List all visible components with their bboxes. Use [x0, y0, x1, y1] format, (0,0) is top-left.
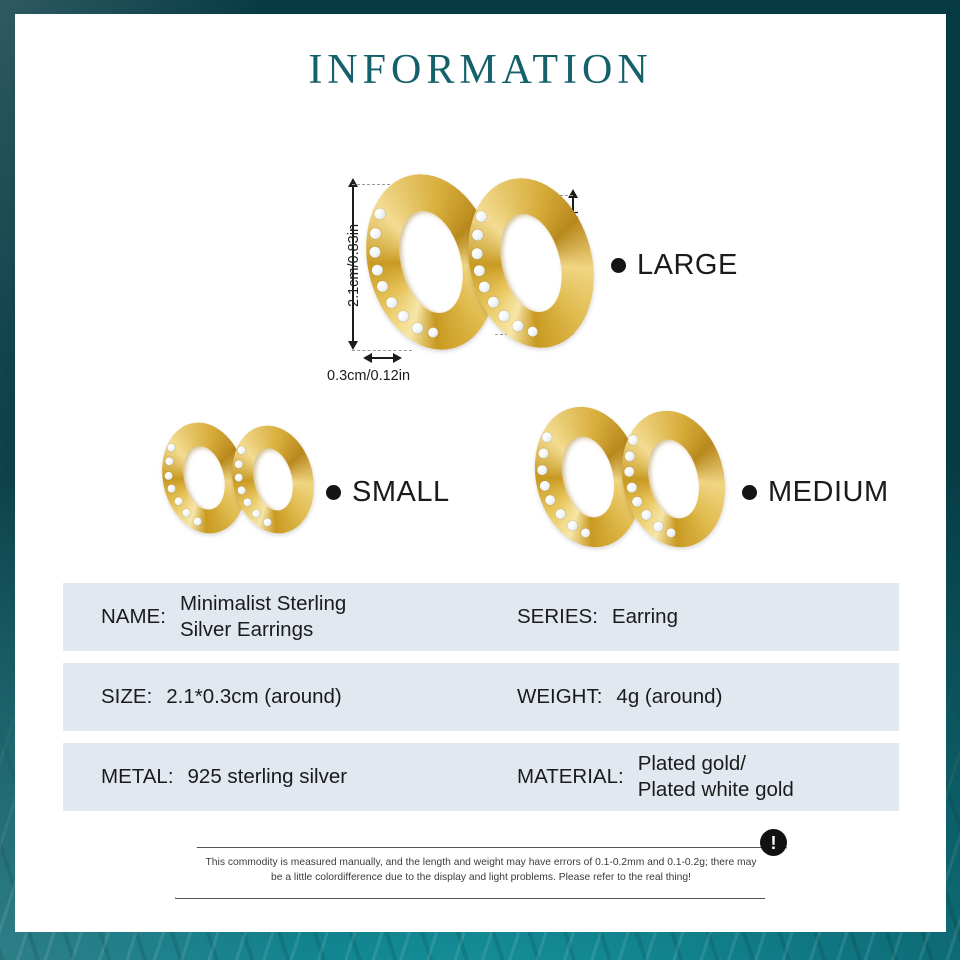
- spec-key-material: MATERIAL:: [517, 765, 624, 789]
- information-card: INFORMATION 2.1cm/0.83in 1.8cm/0.71in 0.…: [15, 14, 946, 932]
- spec-value-name: Minimalist SterlingSilver Earrings: [180, 591, 346, 643]
- spec-key-metal: METAL:: [101, 765, 174, 789]
- spec-cell-series: SERIES: Earring: [507, 598, 899, 636]
- spec-row-name: NAME: Minimalist SterlingSilver Earrings…: [63, 583, 899, 651]
- bullet-icon-medium: [742, 485, 757, 500]
- size-label-small: SMALL: [352, 476, 450, 509]
- spec-cell-metal: METAL: 925 sterling silver: [63, 758, 507, 796]
- bullet-icon-large: [611, 258, 626, 273]
- pave-stones-medium-right: [609, 400, 738, 557]
- bullet-icon-small: [326, 485, 341, 500]
- dim-arrow-bottom-left: [348, 341, 358, 350]
- disclaimer-text: This commodity is measured manually, and…: [201, 856, 761, 886]
- dim-label-width: 0.3cm/0.12in: [327, 368, 410, 384]
- size-caption-medium: MEDIUM: [742, 476, 889, 509]
- disclaimer-banner: This commodity is measured manually, and…: [175, 847, 787, 899]
- size-label-large: LARGE: [637, 249, 738, 282]
- exclamation-icon: !: [760, 829, 787, 856]
- spec-row-metal: METAL: 925 sterling silver MATERIAL: Pla…: [63, 743, 899, 811]
- spec-key-name: NAME:: [101, 605, 166, 629]
- spec-key-series: SERIES:: [517, 605, 598, 629]
- size-caption-large: LARGE: [611, 249, 738, 282]
- spec-cell-size: SIZE: 2.1*0.3cm (around): [63, 678, 507, 716]
- spec-key-size: SIZE:: [101, 685, 152, 709]
- size-label-medium: MEDIUM: [768, 476, 889, 509]
- spec-value-material: Plated gold/Plated white gold: [638, 751, 794, 803]
- size-caption-small: SMALL: [326, 476, 450, 509]
- spec-cell-material: MATERIAL: Plated gold/Plated white gold: [507, 745, 899, 809]
- spec-value-weight: 4g (around): [616, 684, 722, 710]
- spec-key-weight: WEIGHT:: [517, 685, 602, 709]
- dim-arrow-right-bottom: [393, 353, 402, 363]
- teal-border-frame: INFORMATION 2.1cm/0.83in 1.8cm/0.71in 0.…: [0, 0, 960, 960]
- earring-small-right: [222, 417, 324, 541]
- specification-table: NAME: Minimalist SterlingSilver Earrings…: [63, 583, 899, 823]
- pave-stones-small-right: [222, 417, 324, 541]
- spec-cell-weight: WEIGHT: 4g (around): [507, 678, 899, 716]
- spec-row-size: SIZE: 2.1*0.3cm (around) WEIGHT: 4g (aro…: [63, 663, 899, 731]
- spec-value-series: Earring: [612, 604, 678, 630]
- spec-value-metal: 925 sterling silver: [188, 764, 348, 790]
- dim-label-height-outer: 2.1cm/0.83in: [346, 224, 362, 307]
- guide-bottom-left: [352, 350, 412, 351]
- spec-cell-name: NAME: Minimalist SterlingSilver Earrings: [63, 585, 507, 649]
- spec-value-size: 2.1*0.3cm (around): [166, 684, 341, 710]
- earring-medium-right: [609, 400, 738, 557]
- dim-line-bottom: [369, 357, 394, 358]
- page-title: INFORMATION: [15, 46, 946, 94]
